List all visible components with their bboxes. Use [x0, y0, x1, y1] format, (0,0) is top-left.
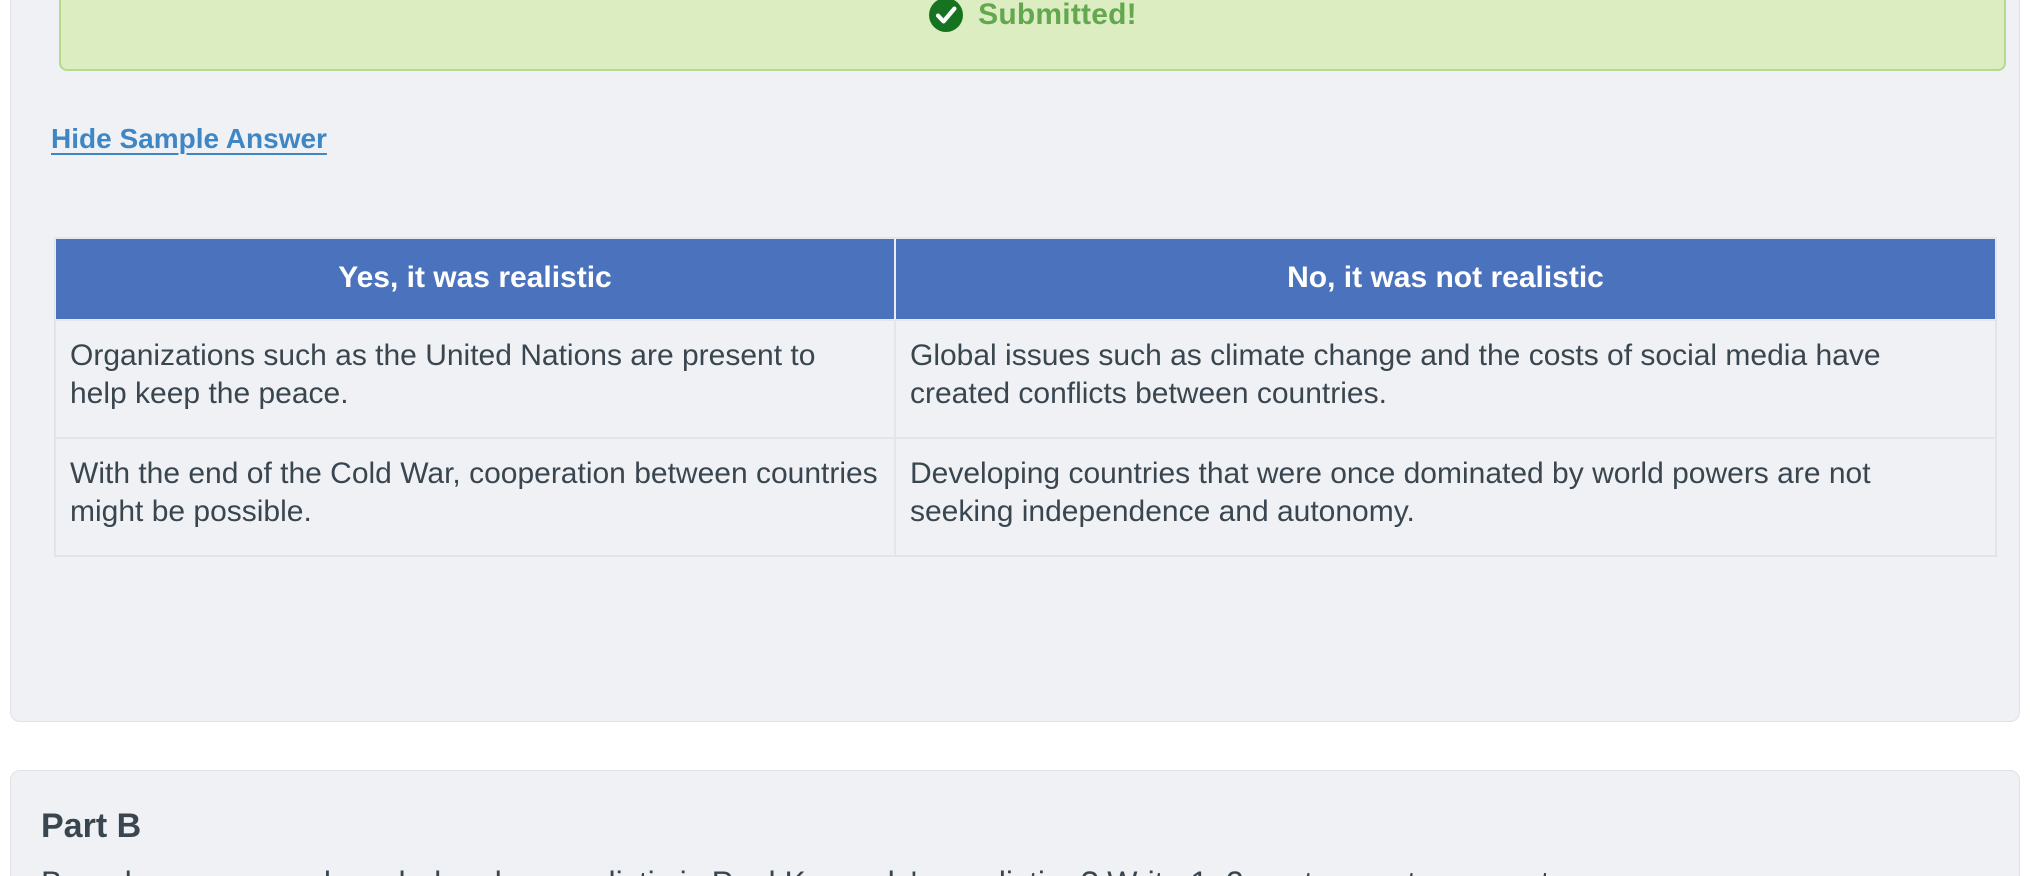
table-cell-no-2: Developing countries that were once domi…: [895, 438, 1996, 556]
hide-sample-answer-link[interactable]: Hide Sample Answer: [51, 123, 327, 155]
table-row: With the end of the Cold War, cooperatio…: [55, 438, 1996, 556]
part-a-card: Submitted! Hide Sample Answer Yes, it wa…: [10, 0, 2020, 722]
table-header-no: No, it was not realistic: [895, 238, 1996, 320]
submitted-status-label: Submitted!: [978, 0, 1137, 30]
table-cell-yes-2: With the end of the Cold War, cooperatio…: [55, 438, 895, 556]
sample-answer-table-head: Yes, it was realistic No, it was not rea…: [55, 238, 1996, 320]
submitted-status-content: Submitted!: [928, 0, 1137, 33]
part-b-title: Part B: [41, 809, 141, 843]
table-cell-no-1: Global issues such as climate change and…: [895, 320, 1996, 438]
part-b-prompt: Based on your own knowledge, how realist…: [41, 863, 1991, 876]
table-header-row: Yes, it was realistic No, it was not rea…: [55, 238, 1996, 320]
table-cell-yes-1: Organizations such as the United Nations…: [55, 320, 895, 438]
table-row: Organizations such as the United Nations…: [55, 320, 1996, 438]
table-header-yes: Yes, it was realistic: [55, 238, 895, 320]
sample-answer-table-body: Organizations such as the United Nations…: [55, 320, 1996, 556]
sample-answer-page: Submitted! Hide Sample Answer Yes, it wa…: [0, 0, 2030, 876]
submitted-status-banner: Submitted!: [59, 0, 2006, 71]
check-circle-icon: [928, 0, 964, 33]
part-b-card: Part B Based on your own knowledge, how …: [10, 770, 2020, 876]
sample-answer-table: Yes, it was realistic No, it was not rea…: [55, 238, 1996, 556]
